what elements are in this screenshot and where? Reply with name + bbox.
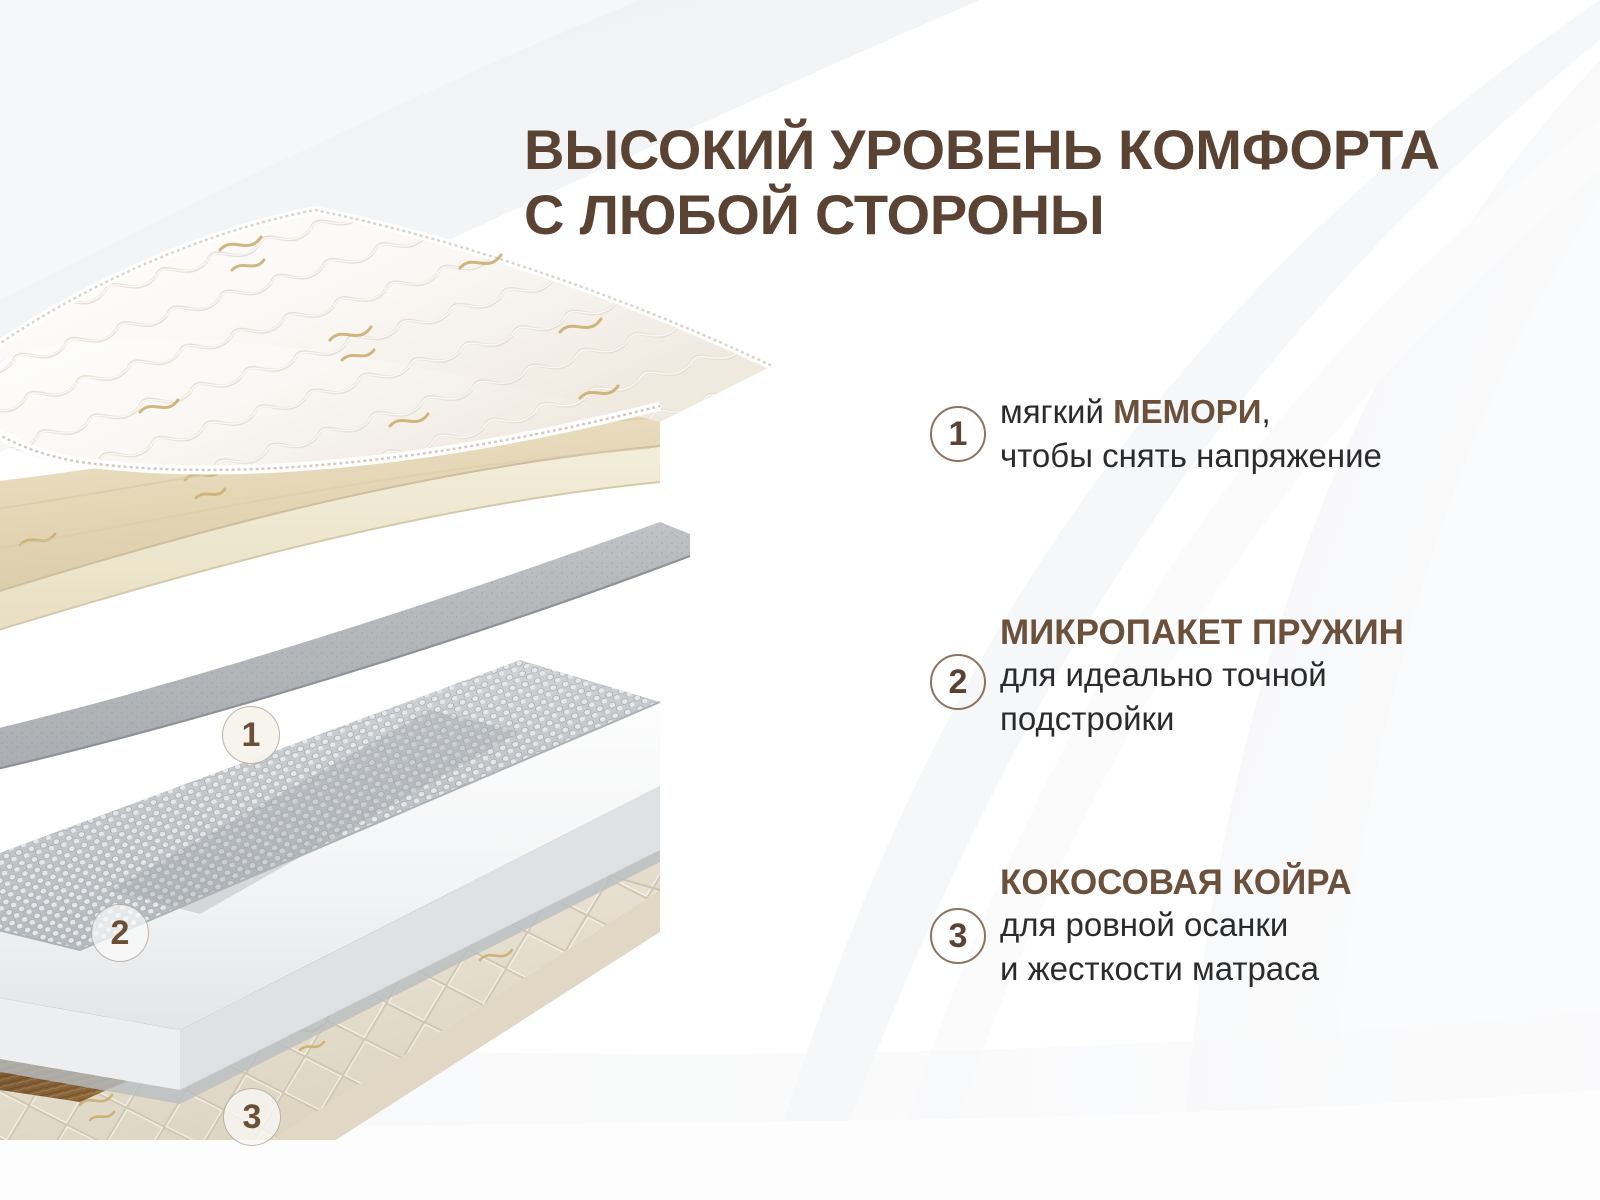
feature-number-3: 3 — [930, 908, 986, 964]
feature-list: 1 мягкий МЕМОРИ,чтобы снять напряжение 2… — [930, 0, 1570, 1200]
feature-1-prefix: мягкий — [1000, 393, 1113, 430]
feature-2-description: для идеально точной подстройки — [1000, 653, 1404, 740]
feature-item-springs: 2 МИКРОПАКЕТ ПРУЖИН для идеально точной … — [930, 612, 1404, 740]
feature-item-memory: 1 мягкий МЕМОРИ,чтобы снять напряжение — [930, 390, 1382, 477]
feature-3-description: для ровной осанки и жесткости матраса — [1000, 903, 1352, 990]
mattress-badge-3: 3 — [223, 1088, 281, 1146]
feature-1-suffix: , — [1261, 393, 1270, 430]
feature-number-2: 2 — [930, 654, 986, 710]
feature-number-1: 1 — [930, 406, 986, 462]
feature-1-text: мягкий МЕМОРИ,чтобы снять напряжение — [1000, 390, 1382, 477]
infographic-canvas: ВЫСОКИЙ УРОВЕНЬ КОМФОРТА С ЛЮБОЙ СТОРОНЫ — [0, 0, 1600, 1200]
mattress-badge-1: 1 — [222, 706, 280, 764]
mattress-badge-2: 2 — [91, 904, 149, 962]
feature-1-title: МЕМОРИ — [1113, 393, 1261, 430]
feature-item-coir: 3 КОКОСОВАЯ КОЙРА для ровной осанки и же… — [930, 862, 1352, 990]
feature-1-description: чтобы снять напряжение — [1000, 437, 1382, 474]
feature-3-title: КОКОСОВАЯ КОЙРА — [1000, 862, 1352, 903]
feature-2-title: МИКРОПАКЕТ ПРУЖИН — [1000, 612, 1404, 653]
mattress-layers-illustration: 1 2 3 — [0, 190, 860, 1140]
